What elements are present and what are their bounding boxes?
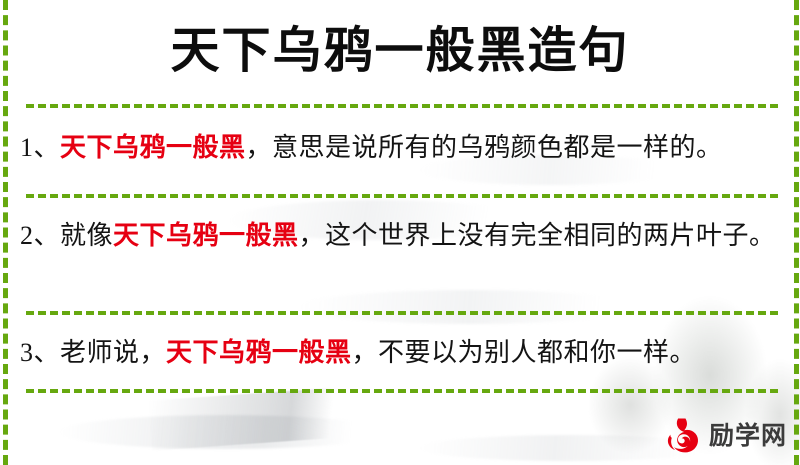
watermark-boat xyxy=(149,383,402,450)
page-title: 天下乌鸦一般黑造句 xyxy=(170,20,629,80)
sentence-1-idiom: 天下乌鸦一般黑 xyxy=(60,133,246,162)
sentence-2-suffix: ，这个世界上没有完全相同的两片叶子。 xyxy=(299,221,776,250)
sentence-worksheet-page: 天下乌鸦一般黑造句 1、天下乌鸦一般黑，意思是说所有的乌鸦颜色都是一样的。 2、… xyxy=(0,0,800,465)
watermark-cloud-lower xyxy=(300,290,640,324)
sentence-1-suffix: ，意思是说所有的乌鸦颜色都是一样的。 xyxy=(246,133,723,162)
sentence-item-3: 3、老师说，天下乌鸦一般黑，不要以为别人都和你一样。 xyxy=(20,331,776,375)
sentence-3-idiom: 天下乌鸦一般黑 xyxy=(166,338,352,367)
sentence-3-prefix: 老师说， xyxy=(60,338,166,367)
site-watermark-logo: 励学网 xyxy=(663,413,791,459)
sentence-2-idiom: 天下乌鸦一般黑 xyxy=(113,221,299,250)
site-watermark-logo-text: 励学网 xyxy=(709,422,787,450)
left-dashed-border xyxy=(3,0,8,465)
sentence-2-number: 2、 xyxy=(20,221,60,250)
separator-after-sentence-1 xyxy=(26,194,778,198)
sentence-2-prefix: 就像 xyxy=(60,221,113,250)
separator-after-sentence-2 xyxy=(26,311,778,315)
page-title-container: 天下乌鸦一般黑造句 xyxy=(0,20,800,80)
sentence-item-2: 2、就像天下乌鸦一般黑，这个世界上没有完全相同的两片叶子。 xyxy=(20,214,776,258)
sentence-3-number: 3、 xyxy=(20,338,60,367)
sentence-3-suffix: ，不要以为别人都和你一样。 xyxy=(352,338,697,367)
flame-swirl-icon xyxy=(663,416,703,456)
sentence-item-1: 1、天下乌鸦一般黑，意思是说所有的乌鸦颜色都是一样的。 xyxy=(20,126,776,170)
separator-after-sentence-3 xyxy=(26,389,778,393)
separator-under-title xyxy=(26,104,778,108)
sentence-1-number: 1、 xyxy=(20,133,60,162)
right-dashed-border xyxy=(794,0,799,465)
watermark-water-upper xyxy=(60,415,390,449)
